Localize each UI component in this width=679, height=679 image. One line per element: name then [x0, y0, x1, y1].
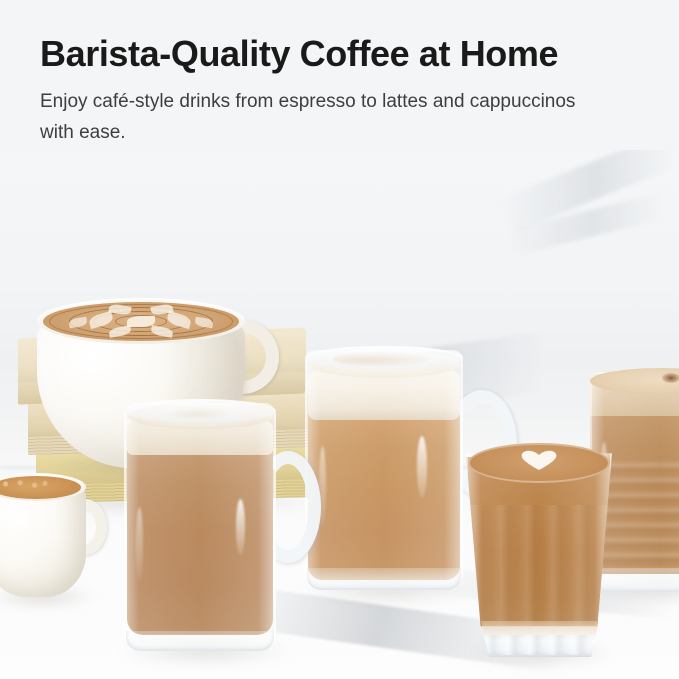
marble-vein [504, 189, 679, 257]
glass-wall [305, 350, 463, 588]
glass-highlight [417, 436, 427, 498]
page-title: Barista-Quality Coffee at Home [40, 33, 650, 75]
cocoa-speck [662, 373, 679, 383]
espresso-cup [0, 475, 104, 603]
mug-rim [124, 399, 276, 423]
tumbler-base-facets [478, 635, 602, 655]
cortado-tumbler [462, 445, 620, 663]
hero-text-block: Barista-Quality Coffee at Home Enjoy caf… [40, 33, 650, 149]
page-subtitle: Enjoy café-style drinks from espresso to… [40, 87, 580, 149]
glass-highlight [136, 507, 143, 581]
heart-latte-art-icon [518, 449, 560, 471]
latte-mug-front [124, 403, 320, 665]
marble-vein [501, 150, 679, 232]
mug-base [307, 568, 461, 590]
product-hero-banner: Barista-Quality Coffee at Home Enjoy caf… [0, 0, 679, 679]
hero-product-photo [0, 150, 679, 679]
mug-body [124, 403, 276, 651]
glass-highlight [236, 499, 245, 555]
mug-rim [305, 346, 463, 370]
mug-body [305, 350, 463, 588]
cappuccino-foam-surface [43, 302, 239, 341]
glass-wall [124, 403, 276, 651]
mug-base [126, 631, 274, 651]
